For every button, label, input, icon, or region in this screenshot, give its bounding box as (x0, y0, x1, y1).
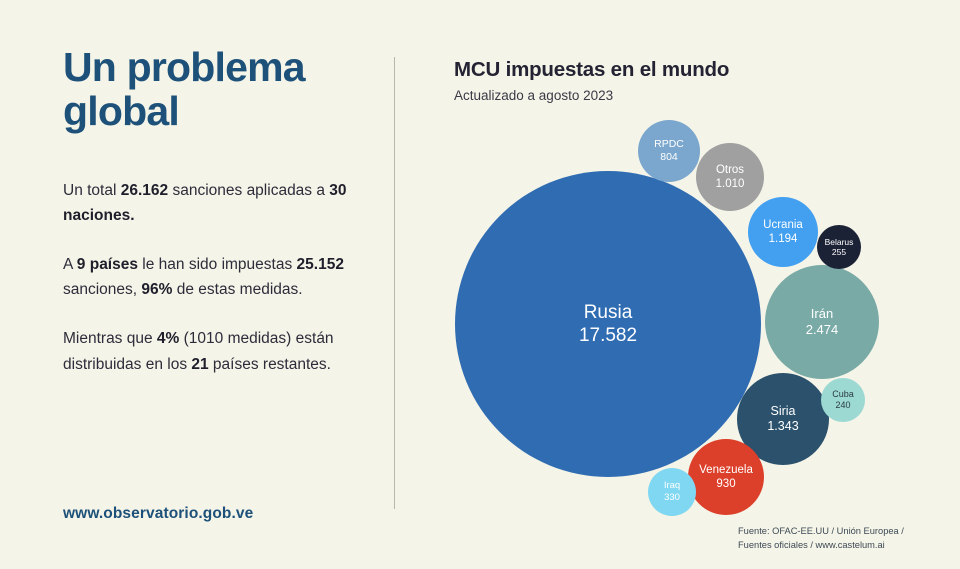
left-panel: Un problema global Un total 26.162 sanci… (63, 46, 373, 526)
bubble-label: Ucrania (763, 218, 803, 232)
bubble-value: 1.010 (716, 177, 745, 191)
bubble-label: Siria (770, 404, 795, 419)
bubble-label: Iraq (664, 480, 680, 492)
bubble-rpdc[interactable]: RPDC804 (638, 120, 700, 182)
summary-text-block: Un total 26.162 sanciones aplicadas a 30… (63, 178, 373, 377)
bubble-value: 240 (835, 400, 850, 411)
bubble-value: 255 (832, 247, 846, 257)
bubble-belarus[interactable]: Belarus255 (817, 225, 861, 269)
bubble-value: 930 (716, 477, 735, 491)
summary-paragraph: Un total 26.162 sanciones aplicadas a 30… (63, 178, 373, 229)
summary-paragraph: A 9 países le han sido impuestas 25.152 … (63, 252, 373, 303)
bubble-iraq[interactable]: Iraq330 (648, 468, 696, 516)
bubble-value: 1.194 (769, 232, 798, 246)
bubble-value: 2.474 (806, 322, 839, 338)
bubble-label: RPDC (654, 138, 684, 151)
vertical-divider (394, 57, 395, 509)
bubble-value: 17.582 (579, 324, 637, 347)
bubble-label: Otros (716, 163, 744, 177)
bubble-value: 1.343 (767, 419, 798, 434)
source-note: Fuente: OFAC-EE.UU / Unión Europea / Fue… (738, 524, 948, 553)
bubble-label: Venezuela (699, 463, 753, 477)
bubble-venezuela[interactable]: Venezuela930 (688, 439, 764, 515)
bubble-value: 804 (660, 151, 678, 164)
summary-paragraph: Mientras que 4% (1010 medidas) están dis… (63, 326, 373, 377)
page-title: Un problema global (63, 46, 373, 134)
bubble-ucrania[interactable]: Ucrania1.194 (748, 197, 818, 267)
bubble-cuba[interactable]: Cuba240 (821, 378, 865, 422)
chart-subtitle: Actualizado a agosto 2023 (454, 88, 934, 103)
website-link[interactable]: www.observatorio.gob.ve (63, 505, 253, 523)
bubble-rusia[interactable]: Rusia17.582 (455, 171, 761, 477)
chart-title: MCU impuestas en el mundo (454, 58, 934, 82)
bubble-label: Rusia (584, 301, 633, 324)
bubble-otros[interactable]: Otros1.010 (696, 143, 764, 211)
bubble-ir-n[interactable]: Irán2.474 (765, 265, 879, 379)
bubble-label: Cuba (832, 389, 854, 400)
bubble-value: 330 (664, 492, 680, 504)
bubble-label: Belarus (825, 237, 854, 247)
bubble-label: Irán (811, 306, 833, 322)
